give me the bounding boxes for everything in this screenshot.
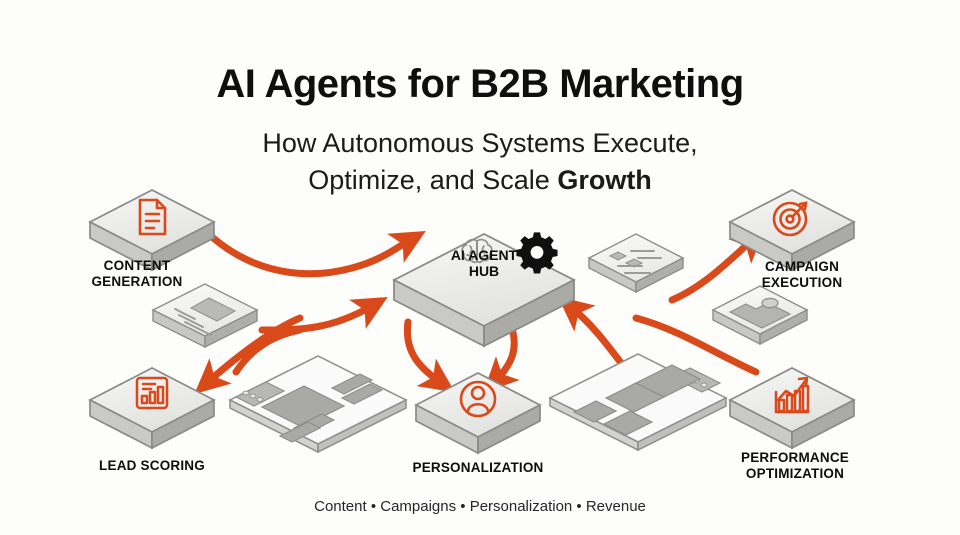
infographic-canvas: AI Agents for B2B Marketing How Autonomo…	[0, 0, 960, 535]
footer-tagline: Content • Campaigns • Personalization • …	[0, 498, 960, 515]
browser-window-icon-right	[550, 354, 726, 450]
node-label-personalization: PERSONALIZATION	[388, 460, 568, 476]
node-personalization[interactable]	[416, 373, 540, 453]
arrow-hub-to-personalization	[407, 322, 440, 382]
subtitle-line-1: How Autonomous Systems Execute,	[0, 128, 960, 159]
node-campaign-execution[interactable]	[730, 190, 854, 270]
subtitle-line-2-bold: Growth	[557, 165, 652, 195]
subtitle-line-2-normal: Optimize, and Scale	[308, 165, 557, 195]
node-label-lead-scoring: LEAD SCORING	[62, 458, 242, 474]
node-performance-optimization[interactable]	[730, 368, 854, 448]
node-label-content-generation: CONTENT GENERATION	[47, 258, 227, 289]
node-lead-scoring[interactable]	[90, 368, 214, 448]
image-placeholder-icon	[713, 286, 807, 344]
node-label-performance-optimization: PERFORMANCE OPTIMIZATION	[702, 450, 888, 481]
node-label-campaign-execution: CAMPAIGN EXECUTION	[712, 259, 892, 290]
arrow-lowerleft-to-hub	[262, 306, 372, 330]
checklist-card-icon	[589, 234, 683, 292]
page-title: AI Agents for B2B Marketing	[0, 62, 960, 107]
browser-window-icon-left	[230, 356, 406, 452]
document-card-icon	[153, 284, 257, 347]
hub-label: AI AGENT HUB	[404, 247, 564, 279]
subtitle-line-2: Optimize, and Scale Growth	[0, 165, 960, 196]
